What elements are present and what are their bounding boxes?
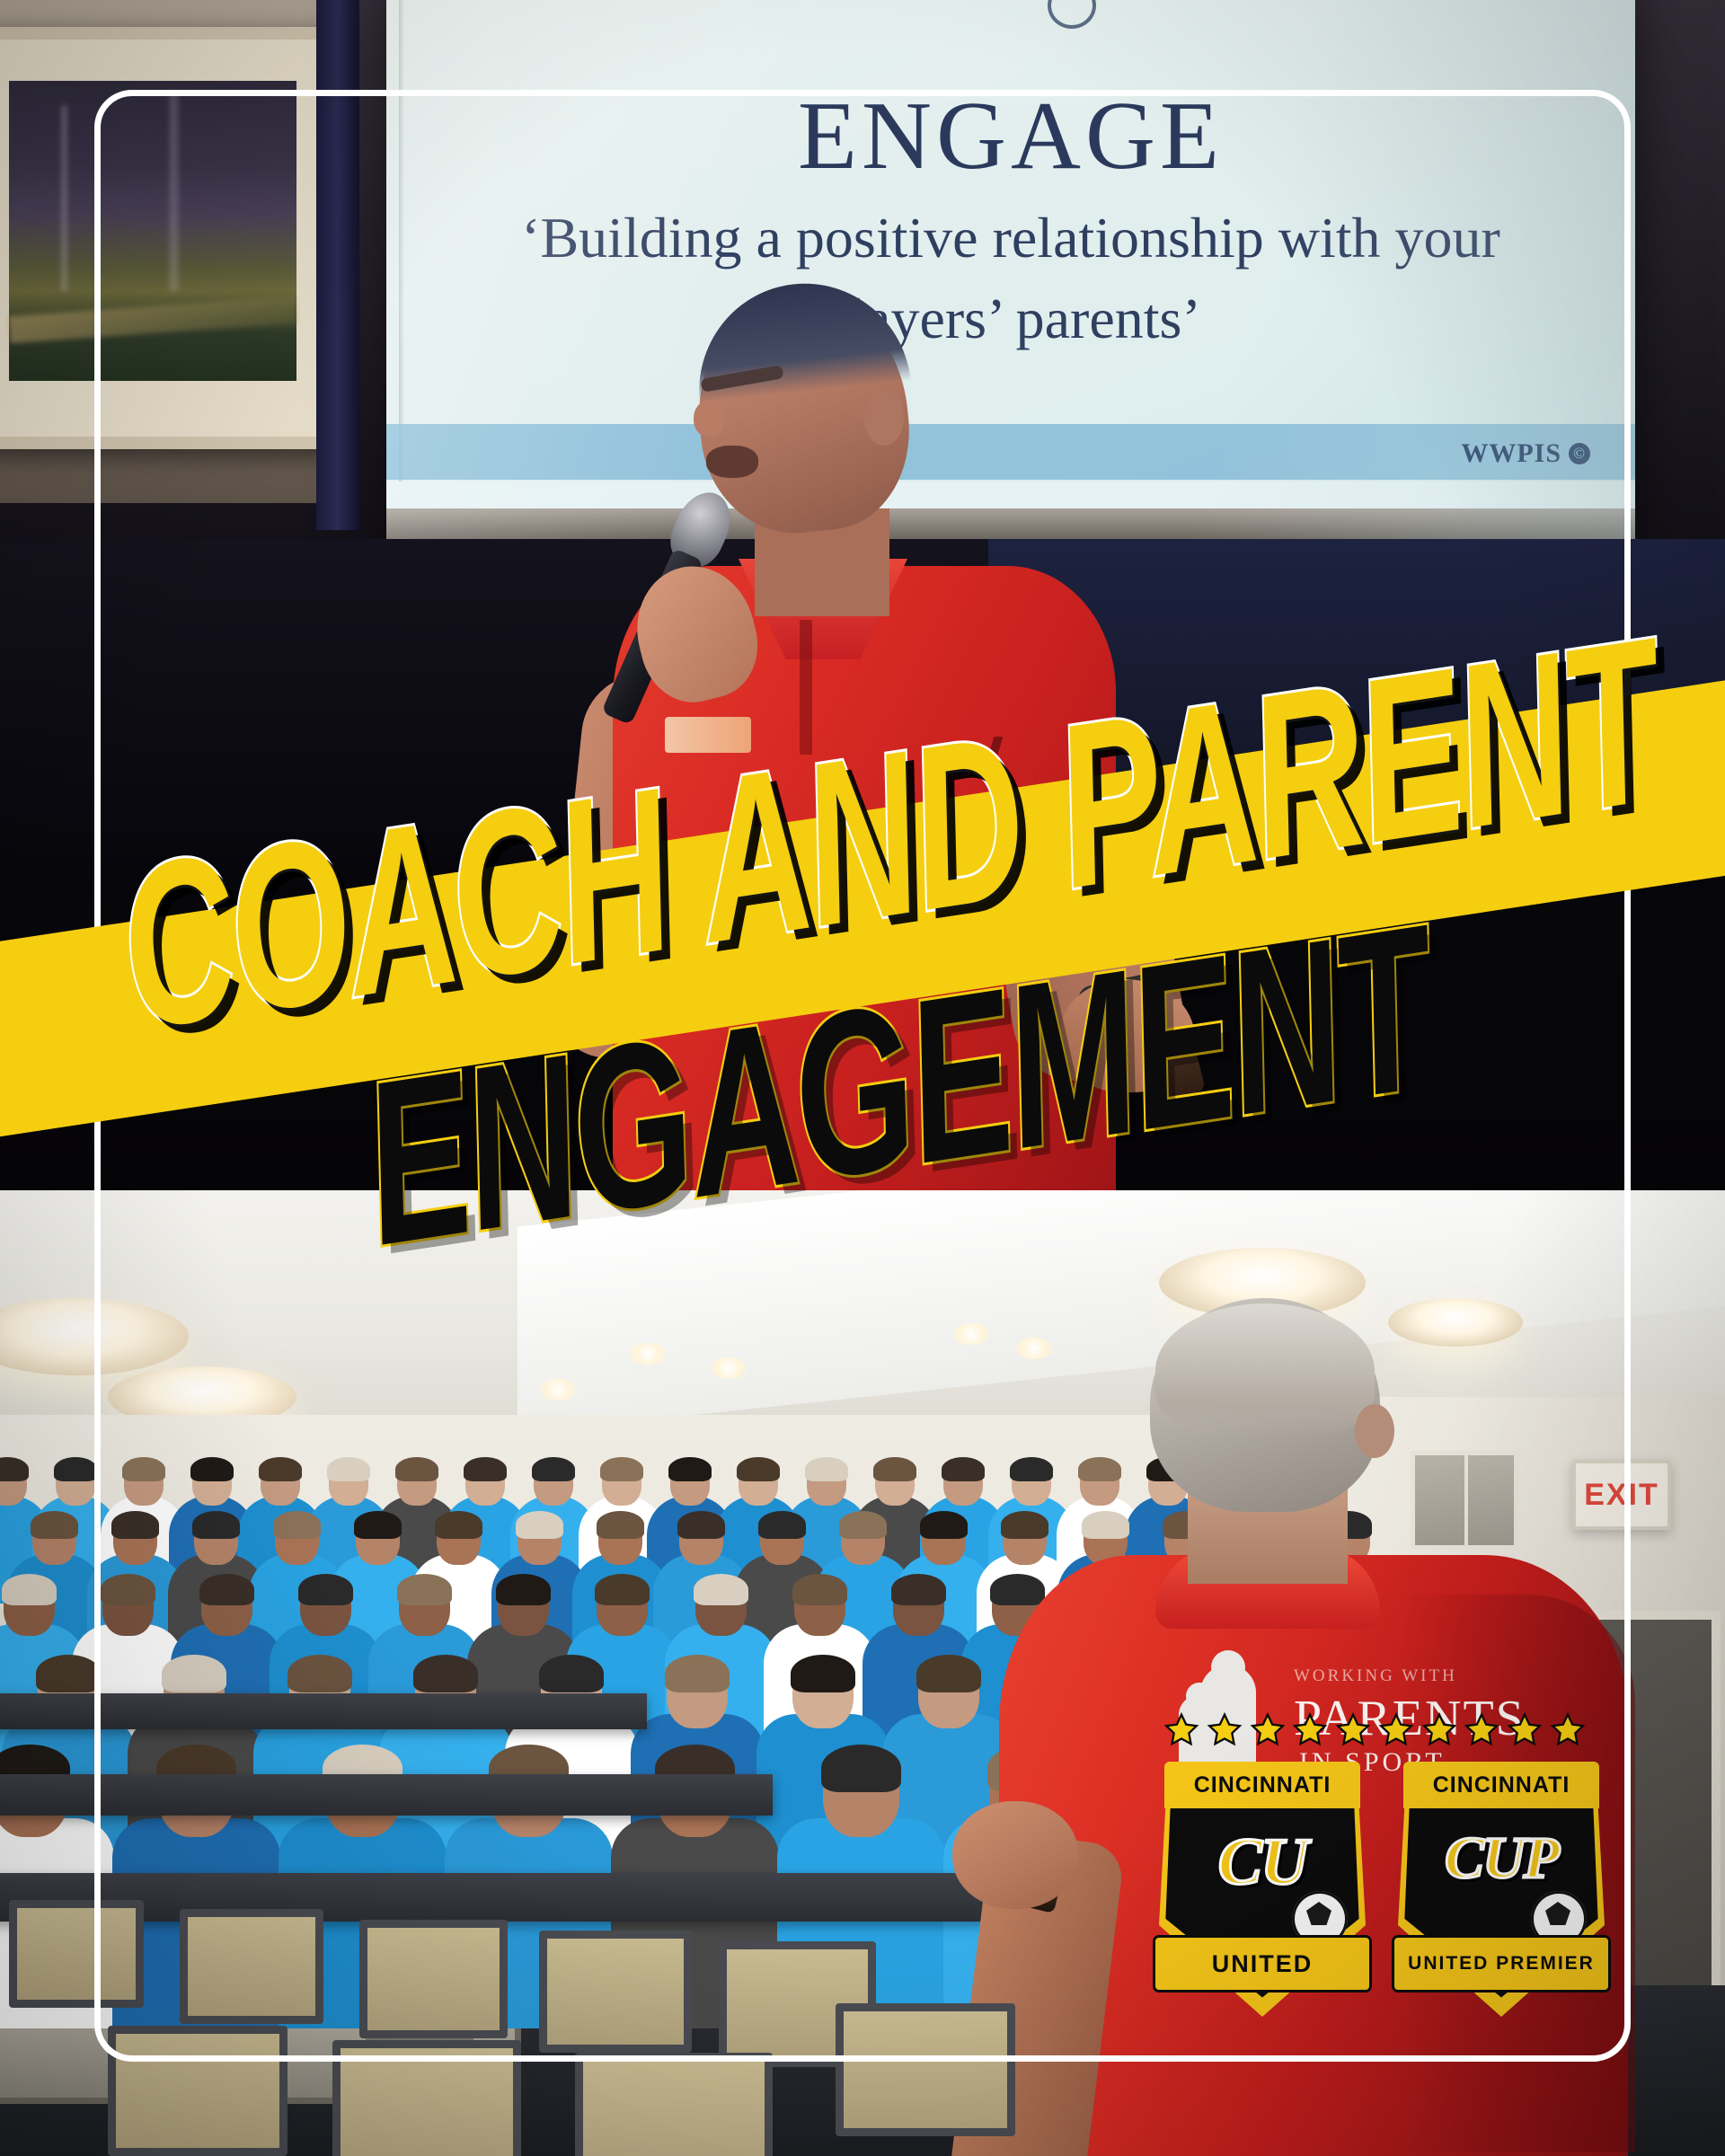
- audience-member-hair: [0, 1457, 29, 1481]
- audience-member-hair: [496, 1574, 551, 1605]
- adidas-stripes-icon: [952, 737, 1003, 776]
- crest-top-band: CINCINNATI: [1403, 1762, 1599, 1808]
- star-icon: [1250, 1712, 1286, 1748]
- speaker-chest-logo: [665, 717, 751, 753]
- audience-member-hair: [111, 1511, 159, 1539]
- slide-title: ENGAGE: [386, 81, 1635, 192]
- audience-member-hair: [891, 1574, 946, 1605]
- slide-credit: WWPIS ©: [1461, 438, 1590, 469]
- audience-chair: [9, 1900, 144, 2008]
- audience-member-hair: [298, 1574, 353, 1605]
- club-crest: CINCINNATICUUNITED: [1150, 1747, 1375, 2017]
- audience-member-hair: [737, 1457, 780, 1481]
- star-icon: [1292, 1712, 1328, 1748]
- crest-bottom-band: UNITED PREMIER: [1394, 1938, 1608, 1990]
- star-icon: [1421, 1712, 1457, 1748]
- audience-member-hair: [397, 1574, 452, 1605]
- audience-member-hair: [873, 1457, 916, 1481]
- speaker-ear: [864, 390, 904, 446]
- wall-painting: [0, 27, 332, 449]
- audience-member-hair: [694, 1574, 748, 1605]
- recessed-downlight: [629, 1343, 667, 1365]
- presenter-hair: [1155, 1303, 1375, 1438]
- painting-path: [8, 296, 296, 342]
- crest-bottom-text: UNITED PREMIER: [1408, 1953, 1595, 1975]
- conference-table: [0, 1774, 773, 1816]
- slide-ring-icon: [1048, 0, 1096, 29]
- audience-member-hair: [532, 1457, 575, 1481]
- audience-member-hair: [668, 1457, 712, 1481]
- audience-member-hair: [259, 1457, 302, 1481]
- audience-member-hair: [920, 1511, 968, 1539]
- crest-top-text: CINCINNATI: [1433, 1772, 1570, 1798]
- audience-member-hair: [916, 1655, 981, 1692]
- star-icon: [1207, 1712, 1243, 1748]
- audience-member-hair: [354, 1511, 402, 1539]
- recessed-downlight: [539, 1379, 577, 1401]
- audience-member-hair: [395, 1457, 438, 1481]
- slide-credit-text: WWPIS: [1461, 438, 1561, 469]
- audience-member-hair: [31, 1511, 78, 1539]
- painting-canvas: [9, 81, 296, 381]
- slide-subtitle-line1: ‘Building a positive relationship with y…: [386, 205, 1635, 271]
- audience-chair: [836, 2003, 1015, 2136]
- audience-member-hair: [821, 1745, 902, 1792]
- conference-table: [0, 1693, 647, 1729]
- star-icon: [1464, 1712, 1499, 1748]
- club-crests: CINCINNATICUUNITEDCINCINNATICUPUNITED PR…: [1150, 1747, 1617, 2017]
- audience-chair: [332, 2040, 521, 2156]
- audience-member-hair: [942, 1457, 985, 1481]
- audience-chair: [108, 2026, 287, 2156]
- crest-bottom-text: UNITED: [1212, 1950, 1314, 1978]
- club-crest: CINCINNATICUPUNITED PREMIER: [1389, 1747, 1614, 2017]
- audience-member-hair: [435, 1511, 482, 1539]
- audience-member-hair: [413, 1655, 478, 1692]
- audience-member-hair: [597, 1511, 644, 1539]
- copyright-icon: ©: [1569, 443, 1590, 464]
- audience-member-hair: [287, 1655, 352, 1692]
- audience-chair: [539, 1931, 692, 2053]
- presenter-ear: [1355, 1404, 1394, 1458]
- presenter-hand: [952, 1801, 1078, 1909]
- audience-member-hair: [199, 1574, 254, 1605]
- speaker-figure: [530, 296, 1195, 1222]
- crest-monogram: CU: [1150, 1825, 1375, 1901]
- conference-table: [0, 1873, 1006, 1922]
- crest-top-band: CINCINNATI: [1164, 1762, 1360, 1808]
- navy-pillar: [316, 0, 359, 530]
- audience-member-hair: [190, 1457, 234, 1481]
- audience-member-hair: [595, 1574, 650, 1605]
- audience-member-hair: [464, 1457, 507, 1481]
- poster-canvas: IN SPORT ENGAGE ‘Building a positive rel…: [0, 0, 1725, 2156]
- star-icon: [1550, 1712, 1586, 1748]
- audience-member-hair: [677, 1511, 725, 1539]
- audience-member-hair: [758, 1511, 806, 1539]
- crest-bottom-band: UNITED: [1155, 1938, 1369, 1990]
- badge-working-with-text: WORKING WITH: [1294, 1666, 1457, 1686]
- audience-chair: [180, 1909, 323, 2024]
- audience-member-hair: [792, 1574, 847, 1605]
- star-icon: [1335, 1712, 1371, 1748]
- audience-member-hair: [600, 1457, 643, 1481]
- audience-member-hair: [839, 1511, 887, 1539]
- audience-chair: [359, 1920, 508, 2038]
- audience-member-hair: [36, 1655, 101, 1692]
- audience-member-hair: [101, 1574, 155, 1605]
- star-icon: [1507, 1712, 1543, 1748]
- audience-member-hair: [162, 1655, 226, 1692]
- speaker-placket: [800, 620, 812, 755]
- audience-member-hair: [54, 1457, 97, 1481]
- audience-member-hair: [273, 1511, 321, 1539]
- star-icon: [1378, 1712, 1414, 1748]
- audience-member-hair: [516, 1511, 563, 1539]
- audience-member-hair: [805, 1457, 848, 1481]
- speaker-mouth: [706, 446, 758, 478]
- crest-top-text: CINCINNATI: [1194, 1772, 1331, 1798]
- audience-member-hair: [2, 1574, 57, 1605]
- audience-member-hair: [192, 1511, 240, 1539]
- audience-member-hair: [791, 1655, 855, 1692]
- audience-member-hair: [122, 1457, 165, 1481]
- star-icon: [1163, 1712, 1199, 1748]
- audience-member-hair: [539, 1655, 604, 1692]
- recessed-downlight: [710, 1357, 747, 1379]
- audience-member-hair: [665, 1655, 730, 1692]
- speaker-nose: [694, 401, 724, 437]
- crest-monogram: CUP: [1389, 1825, 1614, 1893]
- audience-member-hair: [327, 1457, 370, 1481]
- audience-chair: [575, 2053, 773, 2156]
